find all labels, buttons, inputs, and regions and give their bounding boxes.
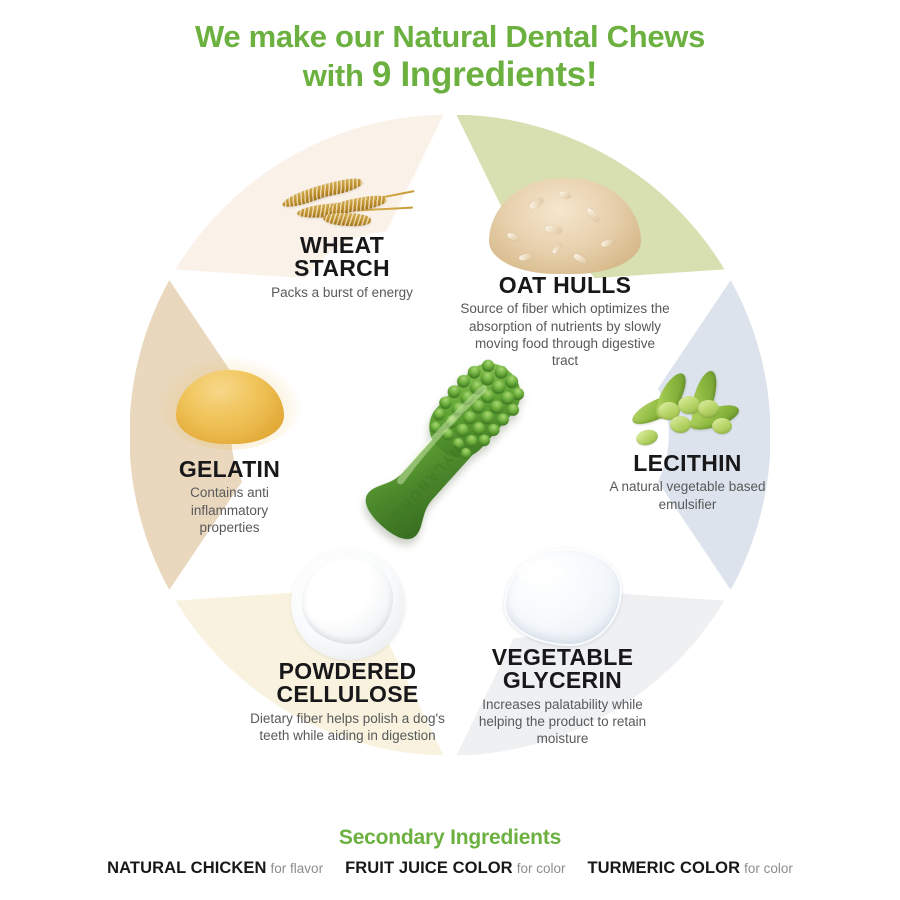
segment-title: VEGETABLE GLYCERIN <box>460 646 665 693</box>
segment-title-line-1: GELATIN <box>137 458 322 481</box>
secondary-ingredient-name: FRUIT JUICE COLOR <box>345 859 513 877</box>
ingredient-count: 9 <box>372 55 391 94</box>
segment-title-line-2: STARCH <box>252 257 432 280</box>
segment-title-line-1: WHEAT <box>252 234 432 257</box>
white-powder-dish-icon <box>291 548 405 660</box>
segment-title: WHEAT STARCH <box>252 234 432 281</box>
secondary-ingredients-section: Secondary Ingredients NATURAL CHICKENfor… <box>0 826 900 878</box>
secondary-ingredients-list: NATURAL CHICKENfor flavor FRUIT JUICE CO… <box>0 859 900 878</box>
wheat-stalks-icon <box>267 172 417 234</box>
secondary-ingredient-purpose: for color <box>744 861 793 876</box>
segment-lecithin[interactable]: LECITHIN A natural vegetable based emuls… <box>600 378 775 513</box>
title-line-2: with 9 Ingredients! <box>0 55 900 94</box>
secondary-ingredient-name: NATURAL CHICKEN <box>107 859 266 877</box>
segment-title: GELATIN <box>137 458 322 481</box>
segment-title-line-2: CELLULOSE <box>240 683 455 706</box>
segment-powdered-cellulose[interactable]: POWDERED CELLULOSE Dietary fiber helps p… <box>240 548 455 744</box>
secondary-ingredient-purpose: for flavor <box>271 861 324 876</box>
segment-description: Contains anti inflammatory properties <box>170 484 290 536</box>
secondary-ingredient-item: NATURAL CHICKENfor flavor <box>107 859 323 878</box>
segment-description: Source of fiber which optimizes the abso… <box>460 300 670 369</box>
segment-title-line-1: POWDERED <box>240 660 455 683</box>
segment-wheat-starch[interactable]: WHEAT STARCH Packs a burst of energy <box>252 172 432 301</box>
segment-description: A natural vegetable based emulsifier <box>600 478 775 513</box>
secondary-ingredient-purpose: for color <box>517 861 566 876</box>
segment-description: Increases palatability while helping the… <box>460 696 665 748</box>
segment-gelatin[interactable]: GELATIN Contains anti inflammatory prope… <box>137 370 322 536</box>
segment-description: Packs a burst of energy <box>252 284 432 301</box>
secondary-ingredient-name: TURMERIC COLOR <box>587 859 740 877</box>
title-line-2-prefix: with <box>303 58 372 93</box>
edamame-soybean-icon <box>624 378 752 452</box>
title-line-1: We make our Natural Dental Chews <box>0 20 900 55</box>
title-line-2-suffix: Ingredients! <box>391 55 597 94</box>
segment-title: LECITHIN <box>600 452 775 475</box>
segment-title: POWDERED CELLULOSE <box>240 660 455 707</box>
secondary-ingredient-item: TURMERIC COLORfor color <box>587 859 792 878</box>
oat-hulls-pile-icon <box>489 178 641 274</box>
secondary-ingredients-heading: Secondary Ingredients <box>0 826 900 850</box>
segment-title: OAT HULLS <box>460 274 670 297</box>
segment-oat-hulls[interactable]: OAT HULLS Source of fiber which optimize… <box>460 178 670 370</box>
segment-vegetable-glycerin[interactable]: VEGETABLE GLYCERIN Increases palatabilit… <box>460 548 665 748</box>
segment-title-line-1: VEGETABLE <box>460 646 665 669</box>
segment-title-line-1: LECITHIN <box>600 452 775 475</box>
gelatin-granules-icon <box>176 370 284 444</box>
glycerin-droplet-icon <box>504 548 622 646</box>
segment-title-line-1: OAT HULLS <box>460 274 670 297</box>
secondary-ingredient-item: FRUIT JUICE COLORfor color <box>345 859 565 878</box>
segment-description: Dietary fiber helps polish a dog's teeth… <box>240 710 455 745</box>
segment-title-line-2: GLYCERIN <box>460 669 665 692</box>
page-title: We make our Natural Dental Chews with 9 … <box>0 20 900 94</box>
